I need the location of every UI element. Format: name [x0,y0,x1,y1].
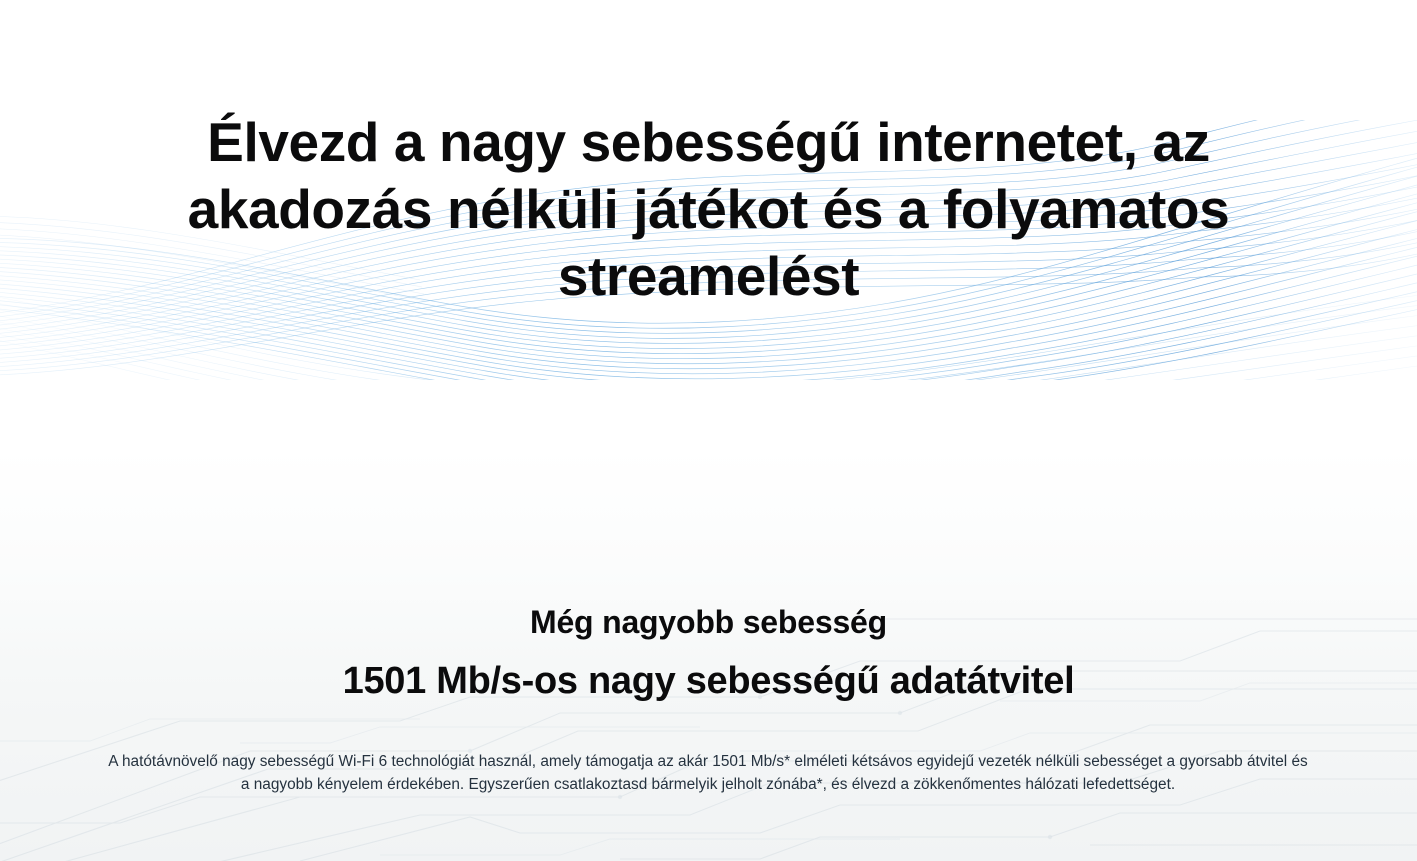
headline-line-2: akadozás nélküli játékot és a folyamatos [0,176,1417,243]
feature-headline: 1501 Mb/s-os nagy sebességű adatátvitel [0,657,1417,705]
headline-line-3: streamelést [0,243,1417,310]
page-title: Élvezd a nagy sebességű internetet, az a… [0,109,1417,310]
promo-page: Élvezd a nagy sebességű internetet, az a… [0,0,1417,861]
feature-kicker: Még nagyobb sebesség [0,600,1417,644]
feature-block: Még nagyobb sebesség 1501 Mb/s-os nagy s… [0,600,1417,705]
headline-line-1: Élvezd a nagy sebességű internetet, az [0,109,1417,176]
feature-description: A hatótávnövelő nagy sebességű Wi-Fi 6 t… [108,751,1308,796]
